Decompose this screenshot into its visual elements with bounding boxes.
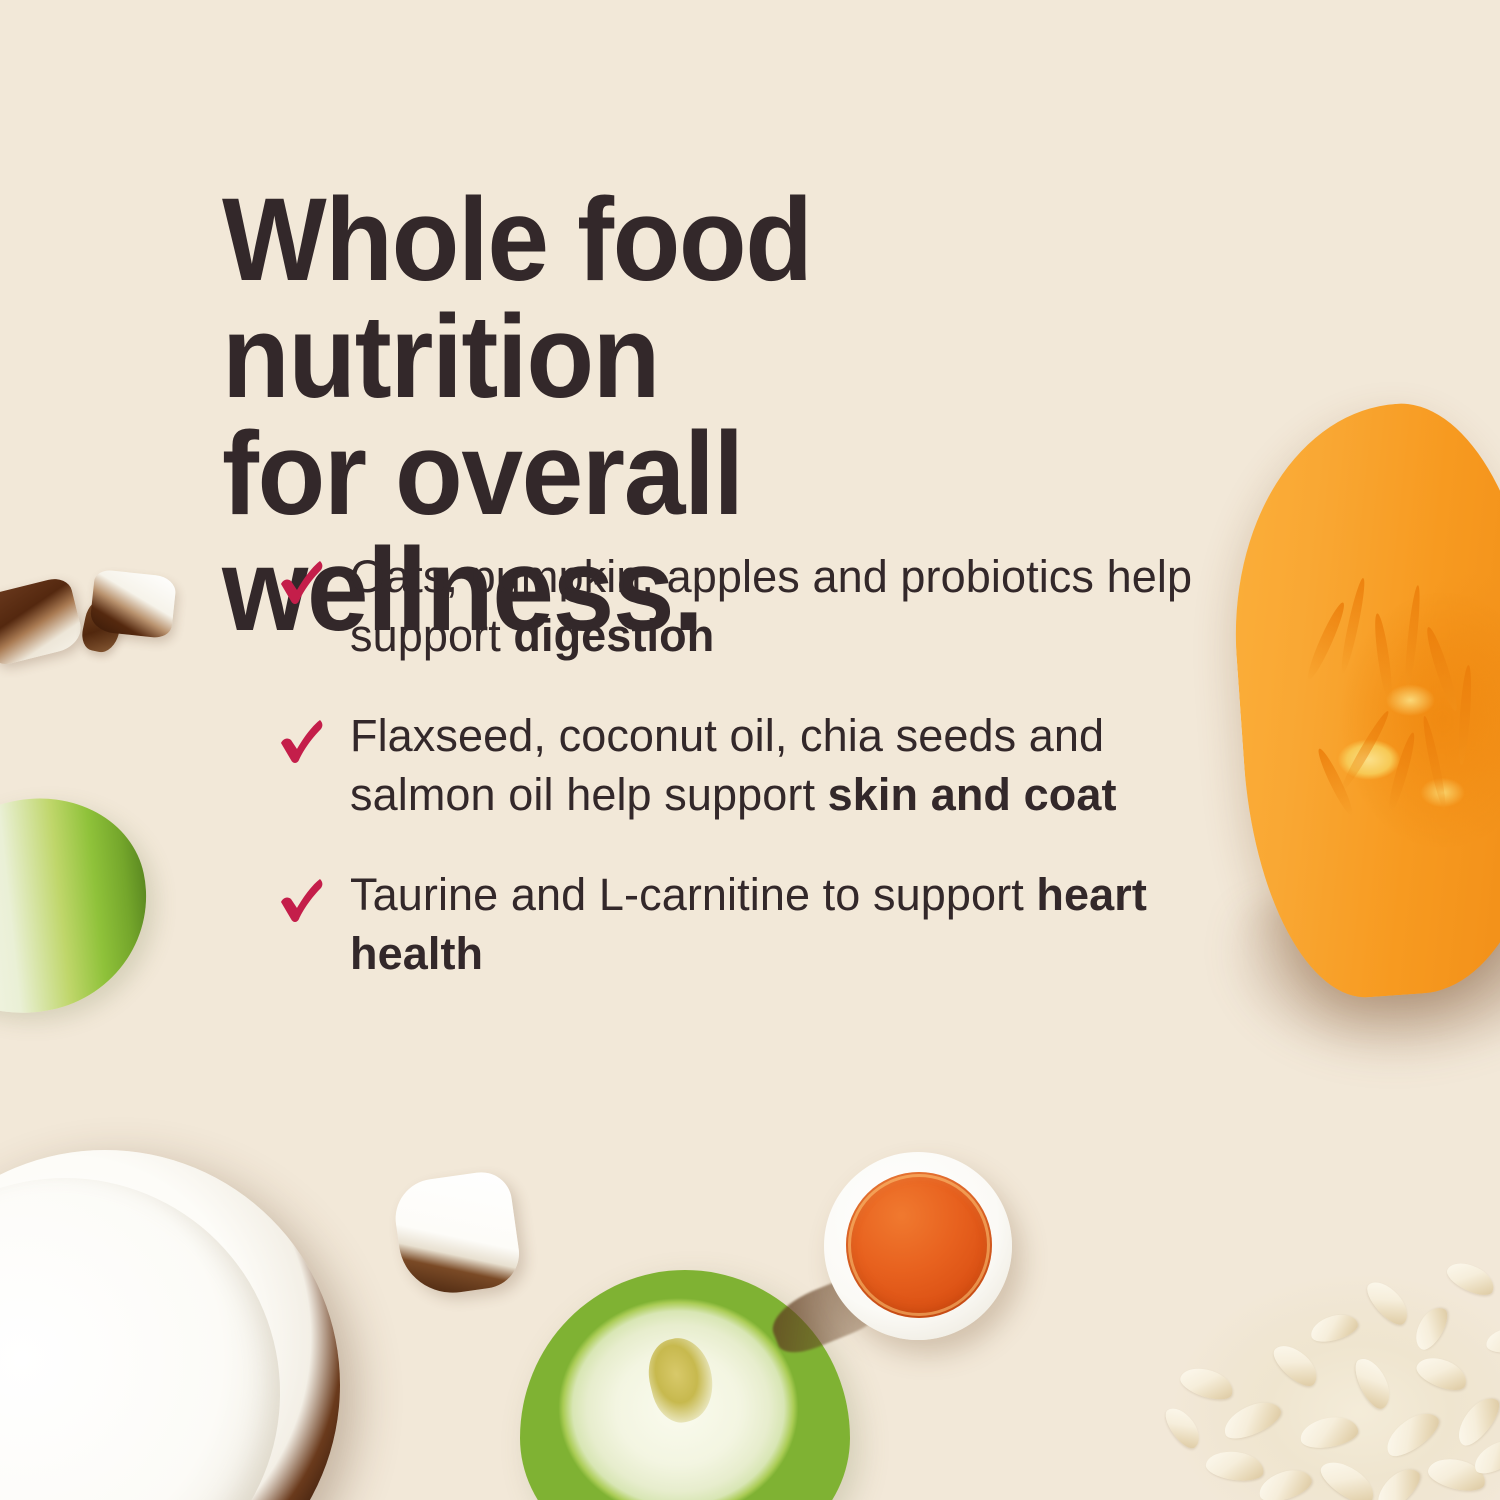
benefit-emphasis: digestion (513, 610, 714, 661)
check-icon (278, 717, 326, 769)
benefit-text: Oats, pumpkin, apples and probiotics hel… (350, 548, 1238, 665)
check-icon (278, 876, 326, 928)
benefits-list: Oats, pumpkin, apples and probiotics hel… (278, 548, 1238, 983)
benefit-lead: Taurine and L-carnitine to support (350, 869, 1036, 920)
list-item: Oats, pumpkin, apples and probiotics hel… (278, 548, 1238, 665)
list-item: Taurine and L-carnitine to support heart… (278, 866, 1238, 983)
benefit-text: Taurine and L-carnitine to support heart… (350, 866, 1238, 983)
benefit-emphasis: skin and coat (828, 769, 1117, 820)
content-layer: Whole food nutrition for overall wellnes… (0, 0, 1500, 1500)
benefit-text: Flaxseed, coconut oil, chia seeds and sa… (350, 707, 1238, 824)
list-item: Flaxseed, coconut oil, chia seeds and sa… (278, 707, 1238, 824)
check-icon (278, 558, 326, 610)
infographic-canvas: Whole food nutrition for overall wellnes… (0, 0, 1500, 1500)
benefit-lead: Oats, pumpkin, apples and probiotics hel… (350, 551, 1192, 661)
